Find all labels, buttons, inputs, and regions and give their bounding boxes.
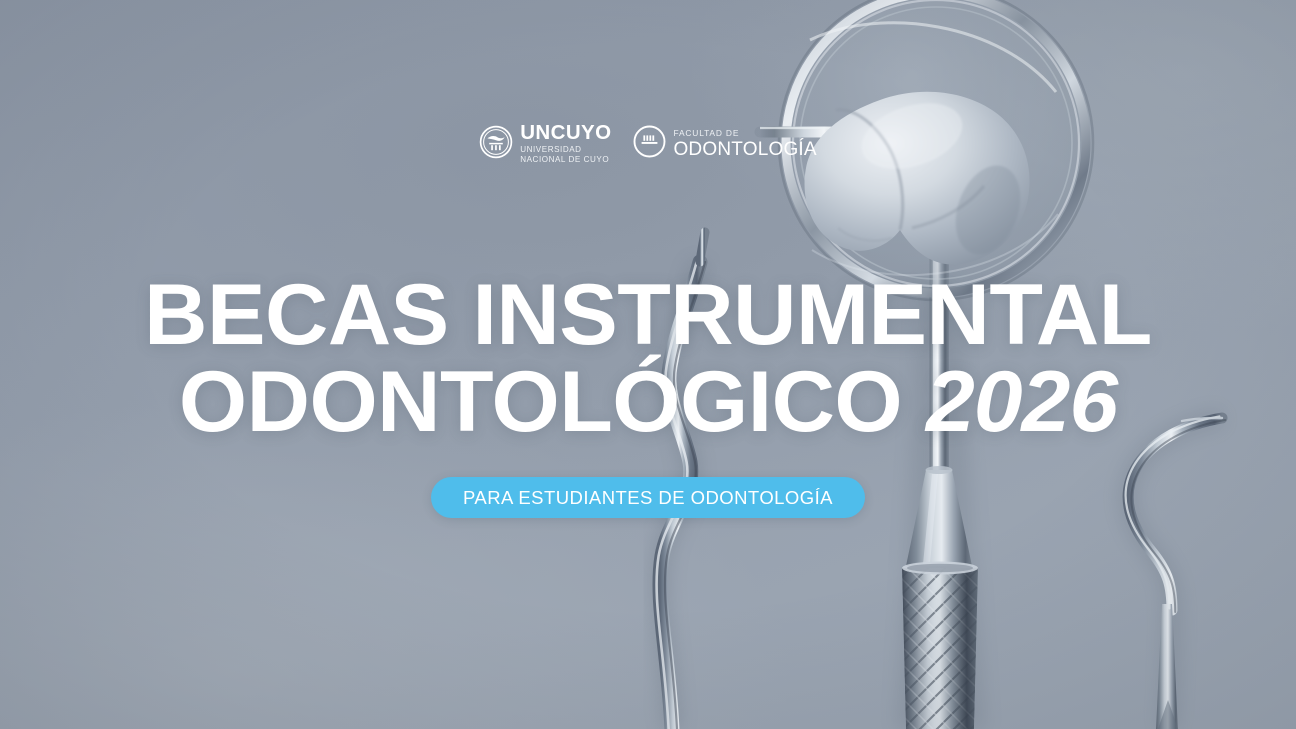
audience-badge: PARA ESTUDIANTES DE ODONTOLOGÍA [431, 477, 865, 518]
uncuyo-name: UNCUYO [520, 123, 611, 144]
headline-line-1: BECAS INSTRUMENTAL [0, 273, 1296, 357]
poster-canvas: UNCUYO UNIVERSIDAD NACIONAL DE CUYO [0, 0, 1296, 729]
uncuyo-subtitle-line1: UNIVERSIDAD [520, 145, 611, 155]
odontologia-logo: FACULTAD DE ODONTOLOGÍA [633, 125, 816, 163]
odontologia-name: ODONTOLOGÍA [673, 140, 816, 159]
uncuyo-logo: UNCUYO UNIVERSIDAD NACIONAL DE CUYO [479, 123, 611, 165]
logo-row: UNCUYO UNIVERSIDAD NACIONAL DE CUYO [0, 123, 1296, 165]
uncuyo-subtitle-line2: NACIONAL DE CUYO [520, 155, 611, 165]
page-title: BECAS INSTRUMENTAL ODONTOLÓGICO 2026 [0, 273, 1296, 444]
odontologia-logo-text: FACULTAD DE ODONTOLOGÍA [673, 129, 816, 158]
uncuyo-crest-icon [479, 125, 513, 164]
headline-subject: ODONTOLÓGICO [179, 354, 902, 450]
uncuyo-logo-text: UNCUYO UNIVERSIDAD NACIONAL DE CUYO [520, 123, 611, 165]
poster-content: UNCUYO UNIVERSIDAD NACIONAL DE CUYO [0, 0, 1296, 729]
odontologia-eyebrow: FACULTAD DE [673, 129, 816, 137]
headline-year: 2026 [926, 354, 1117, 450]
badge-container: PARA ESTUDIANTES DE ODONTOLOGÍA [0, 477, 1296, 518]
headline-line-2: ODONTOLÓGICO 2026 [0, 360, 1296, 444]
odontologia-emblem-icon [633, 125, 666, 163]
